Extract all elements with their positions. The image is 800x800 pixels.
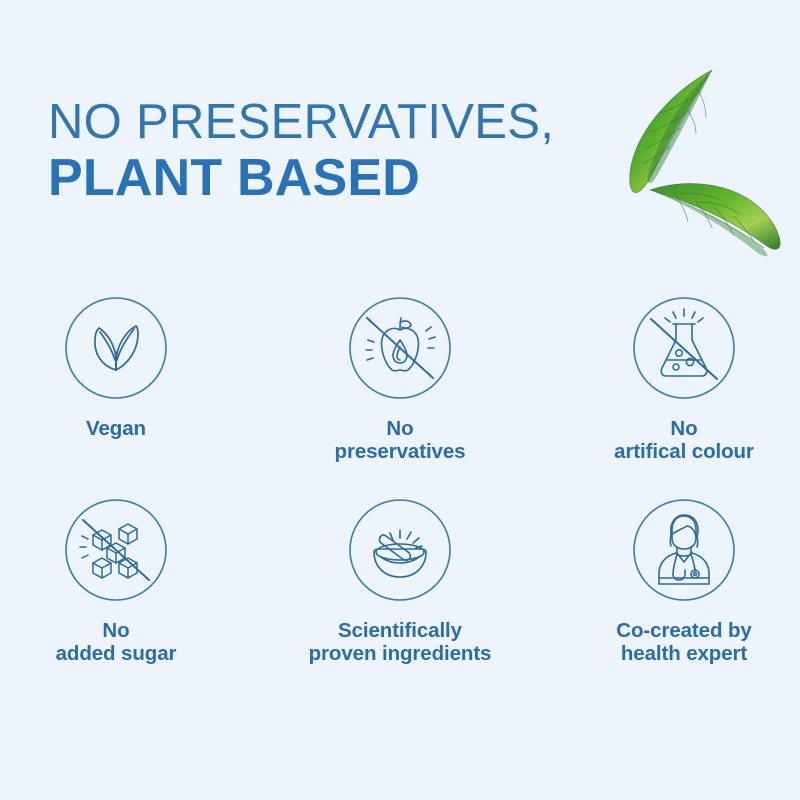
heading-block: NO PRESERVATIVES, PLANT BASED: [48, 96, 628, 206]
feature-item-no-preservatives: No preservatives: [284, 296, 536, 463]
feature-label: Scientifically proven ingredients: [309, 619, 492, 665]
leaf-upper-shape: [630, 70, 712, 193]
feature-grid: Vegan: [0, 296, 800, 665]
heading-line-1: NO PRESERVATIVES,: [48, 96, 628, 148]
no-artificial-colour-flask-icon: [632, 296, 736, 400]
health-expert-doctor-icon: [632, 498, 736, 602]
feature-item-vegan: Vegan: [0, 296, 284, 463]
heading-line-2: PLANT BASED: [48, 150, 628, 206]
feature-item-scientifically-proven: Scientifically proven ingredients: [284, 498, 536, 665]
poster-canvas: NO PRESERVATIVES, PLANT BASED: [0, 0, 800, 800]
feature-label: No added sugar: [56, 619, 177, 665]
feature-row-1: Vegan: [0, 296, 800, 463]
feature-item-health-expert: Co-created by health expert: [536, 498, 800, 665]
leaf-lower-shape: [650, 184, 780, 257]
leaf-decoration-group: [608, 62, 800, 282]
feature-item-no-artificial-colour: No artifical colour: [536, 296, 800, 463]
feature-label: No artifical colour: [614, 417, 754, 463]
feature-item-no-added-sugar: No added sugar: [0, 498, 284, 665]
feature-label: No preservatives: [335, 417, 466, 463]
mortar-pestle-icon: [348, 498, 452, 602]
no-preservatives-apple-droplet-icon: [348, 296, 452, 400]
feature-label: Vegan: [86, 417, 146, 440]
feature-label: Co-created by health expert: [616, 619, 751, 665]
no-added-sugar-cubes-icon: [64, 498, 168, 602]
feature-row-2: No added sugar: [0, 498, 800, 665]
two-leaves-icon: [64, 296, 168, 400]
